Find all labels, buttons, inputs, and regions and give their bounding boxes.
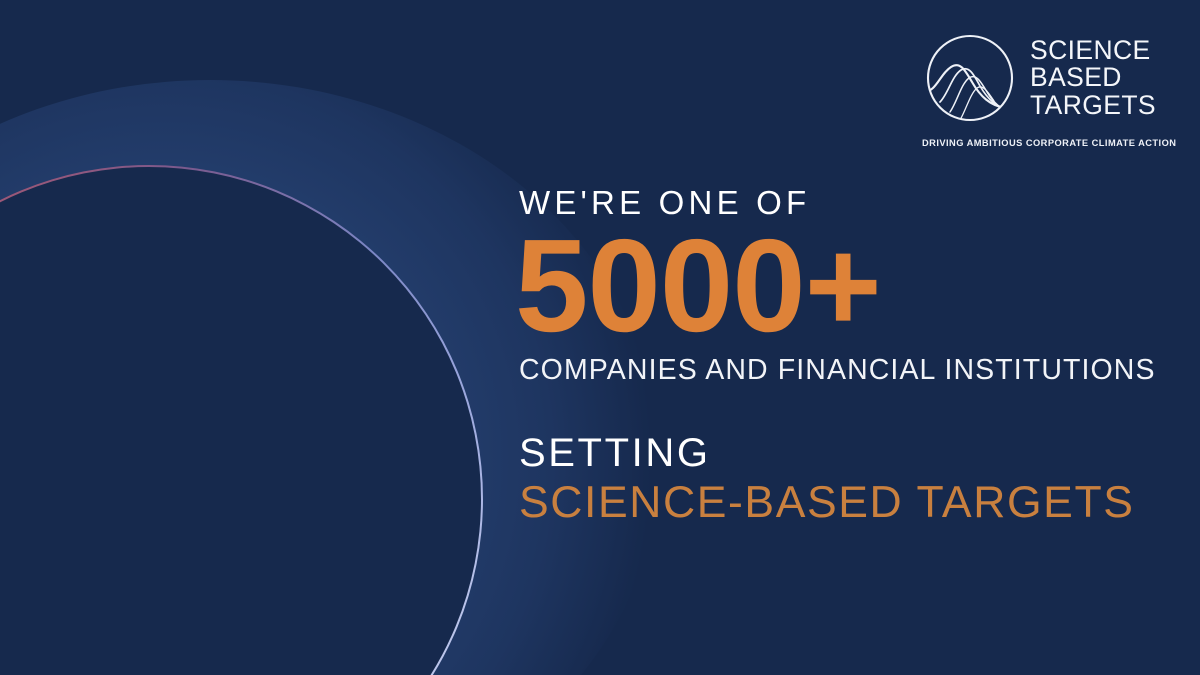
promo-graphic-canvas: WE'RE ONE OF 5000+ COMPANIES AND FINANCI… <box>0 0 1200 675</box>
logo-word-science: SCIENCE <box>1030 37 1156 65</box>
sbt-wordmark: SCIENCE BASED TARGETS <box>1030 37 1156 120</box>
circular-photo <box>0 168 480 675</box>
headline-block: WE'RE ONE OF 5000+ COMPANIES AND FINANCI… <box>519 186 1169 527</box>
logo-word-targets: TARGETS <box>1030 92 1156 120</box>
larch-tree <box>296 288 480 675</box>
logo-word-based: BASED <box>1030 64 1156 92</box>
headline-action-verb: SETTING <box>519 432 1169 474</box>
headline-action-object: SCIENCE-BASED TARGETS <box>519 480 1169 527</box>
sbt-wave-circle-icon <box>920 28 1020 128</box>
headline-subject: COMPANIES AND FINANCIAL INSTITUTIONS <box>519 356 1169 385</box>
logo-tagline: DRIVING AMBITIOUS CORPORATE CLIMATE ACTI… <box>922 138 1158 148</box>
sbt-logo: SCIENCE BASED TARGETS DRIVING AMBITIOUS … <box>920 28 1160 163</box>
headline-count: 5000+ <box>515 223 1169 350</box>
